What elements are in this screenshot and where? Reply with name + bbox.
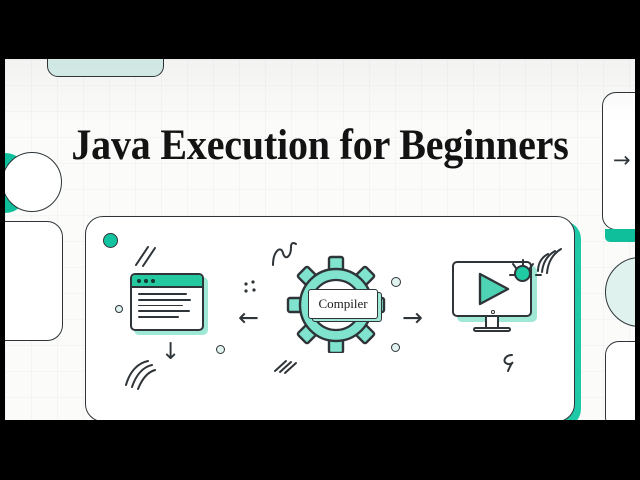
code-window-icon: [130, 273, 204, 331]
diagram-card: ↓ ←: [85, 216, 575, 420]
decor-dot-icon: [216, 345, 225, 354]
arrow-right-icon: →: [613, 150, 631, 171]
decor-right-circle: [605, 257, 635, 327]
slide-title: Java Execution for Beginners: [27, 121, 613, 170]
arrow-right-icon: →: [402, 305, 423, 330]
decor-left-avatar-body: [5, 221, 63, 341]
node-compiler: Compiler: [284, 253, 388, 353]
decor-hatch-icon: [272, 355, 300, 377]
letterbox-bottom: [0, 420, 640, 480]
decor-dot-icon: [115, 305, 123, 313]
decor-speedlines-icon: [132, 243, 166, 269]
window-dot-icon: [151, 279, 155, 283]
decor-curl-icon: [498, 351, 522, 375]
monitor-base: [473, 327, 511, 332]
code-line: [138, 299, 191, 301]
arrow-left-icon: ←: [238, 305, 259, 330]
video-frame: → Java Execution for Beginners: [0, 0, 640, 480]
monitor-led-icon: [491, 310, 495, 314]
decor-top-tab: [47, 59, 164, 77]
node-source-code: [130, 273, 206, 333]
decor-swoosh-icon: [122, 359, 160, 391]
code-line: [138, 316, 179, 318]
spark-icon: [514, 265, 531, 282]
signal-waves-icon: [534, 245, 564, 275]
code-line: [138, 305, 183, 307]
compiler-label-box: Compiler: [308, 289, 378, 319]
letterbox-right: [635, 0, 640, 480]
code-line: [138, 293, 187, 295]
decor-dots-cluster-icon: [242, 279, 260, 297]
code-lines: [132, 288, 202, 323]
compiler-label-text: Compiler: [318, 296, 367, 312]
code-window-titlebar: [132, 275, 202, 288]
window-dot-icon: [144, 279, 148, 283]
decor-dot-icon: [391, 343, 400, 352]
code-line: [138, 310, 190, 312]
status-dot-icon: [103, 233, 118, 248]
decor-right-teal-bar: [605, 229, 635, 242]
decor-right-bottom-card: [605, 341, 635, 420]
window-dot-icon: [137, 279, 141, 283]
letterbox-left: [0, 0, 5, 480]
decor-dot-icon: [391, 277, 401, 287]
node-output: [452, 261, 548, 343]
arrow-down-icon: ↓: [161, 341, 180, 364]
letterbox-top: [0, 0, 640, 59]
slide-canvas: → Java Execution for Beginners: [5, 59, 635, 420]
